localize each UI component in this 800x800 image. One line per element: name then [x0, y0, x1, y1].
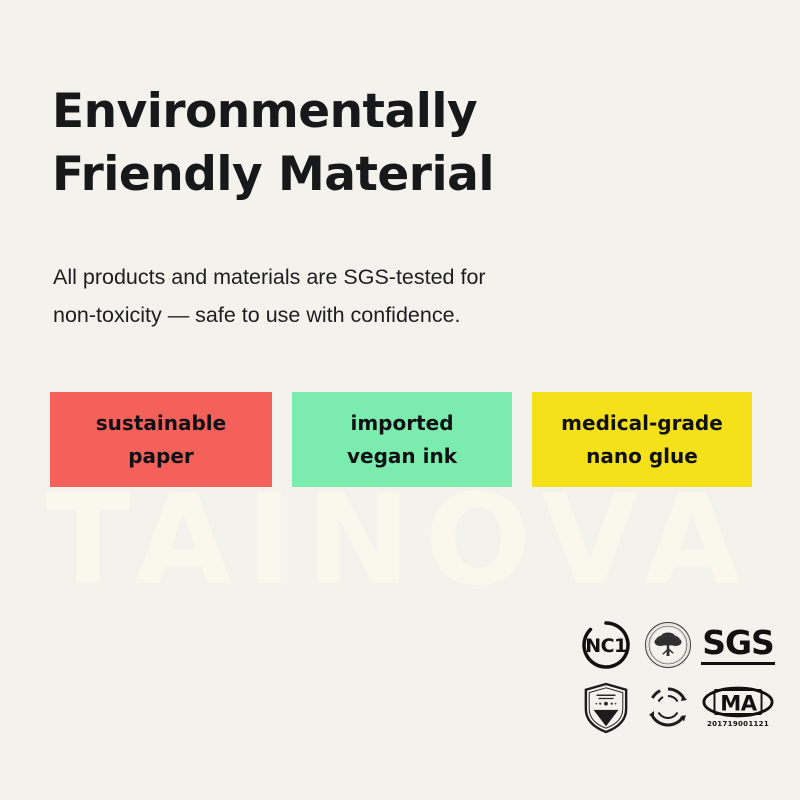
material-chip-label-line-1: medical-grade: [561, 407, 723, 440]
recycle-arrows-icon: [637, 682, 699, 732]
material-chip-label-line-1: imported: [350, 407, 453, 440]
tree-seal-icon: [637, 620, 699, 670]
material-chip-label-line-2: nano glue: [586, 440, 698, 473]
page-subtitle: All products and materials are SGS-teste…: [53, 258, 673, 335]
page-title-line-1: Environmentally: [52, 81, 752, 144]
page-title-line-2: Friendly Material: [52, 144, 752, 207]
material-chip-sustainable-paper: sustainable paper: [50, 392, 272, 487]
shield-chevron-icon: [575, 682, 637, 734]
sgs-underline-bar: [701, 662, 775, 665]
ma-certificate-number: 201719001121: [707, 720, 769, 728]
material-chip-imported-vegan-ink: imported vegan ink: [292, 392, 512, 487]
page-title: Environmentally Friendly Material: [52, 81, 752, 206]
poster-canvas: TAINOVA Environmentally Friendly Materia…: [0, 0, 800, 800]
material-chip-label-line-2: paper: [128, 440, 194, 473]
sgs-label: SGS: [702, 626, 774, 659]
nc1-circle-icon: NC1: [575, 620, 637, 670]
page-subtitle-line-2: non-toxicity — safe to use with confiden…: [53, 296, 673, 334]
material-chip-medical-grade-nano-glue: medical-grade nano glue: [532, 392, 752, 487]
certification-badge-row-2: MA 201719001121: [575, 682, 780, 740]
certification-badge-group: NC1: [575, 620, 780, 740]
material-chip-group: sustainable paper imported vegan ink med…: [50, 392, 760, 487]
brand-watermark: TAINOVA: [0, 478, 800, 603]
ma-oval-icon: MA 201719001121: [699, 682, 777, 728]
certification-badge-row-1: NC1: [575, 620, 780, 678]
svg-text:NC1: NC1: [585, 635, 627, 657]
sgs-wordmark-icon: SGS: [699, 620, 777, 665]
svg-text:MA: MA: [720, 691, 758, 716]
material-chip-label-line-2: vegan ink: [347, 440, 457, 473]
material-chip-label-line-1: sustainable: [96, 407, 226, 440]
page-subtitle-line-1: All products and materials are SGS-teste…: [53, 258, 673, 296]
